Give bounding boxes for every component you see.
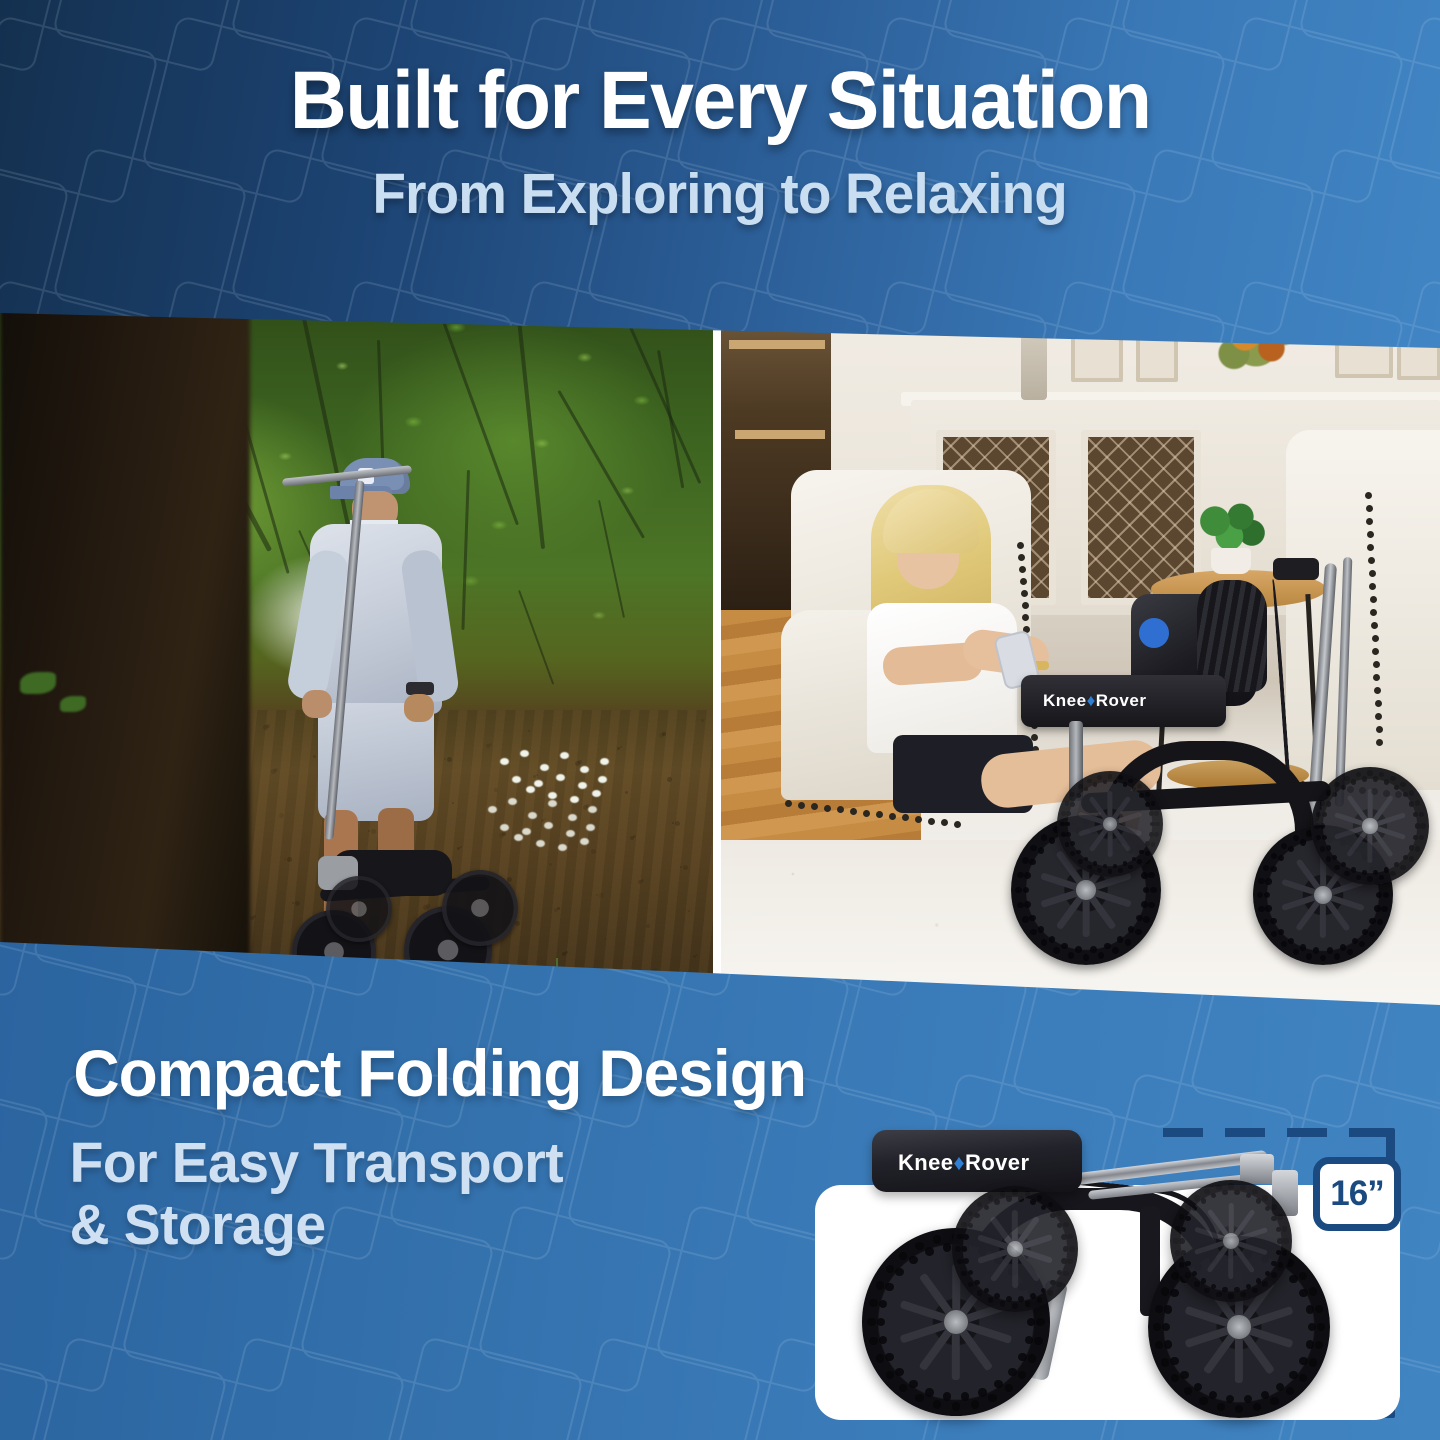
flower xyxy=(568,814,577,821)
debris-speck xyxy=(599,893,604,898)
flower xyxy=(514,834,523,841)
flower xyxy=(580,766,589,773)
debris-speck xyxy=(659,733,664,738)
feature-subtitle: For Easy Transport & Storage xyxy=(70,1133,563,1256)
photo-gallery: Knee♦Rover xyxy=(0,280,1440,1010)
tire-holes xyxy=(1311,767,1429,885)
feature-title: Compact Folding Design xyxy=(73,1040,806,1106)
indoor-living-room-photo: Knee♦Rover xyxy=(721,280,1440,1010)
flower xyxy=(558,844,567,851)
debris-speck xyxy=(701,719,704,722)
kitchen-shelf xyxy=(735,430,825,439)
nailhead xyxy=(1369,570,1376,577)
debris-speck xyxy=(667,777,672,782)
brand-word-2: Rover xyxy=(965,1150,1029,1175)
debris-speck xyxy=(696,954,698,956)
tire-holes xyxy=(1170,1180,1292,1302)
debris-speck xyxy=(250,916,254,920)
size-badge: 16” xyxy=(1313,1157,1401,1231)
debris-speck xyxy=(630,836,634,840)
flower xyxy=(508,798,517,805)
debris-speck xyxy=(528,730,530,732)
flower xyxy=(536,840,545,847)
debris-speck xyxy=(544,818,546,820)
feature-subtitle-line-2: & Storage xyxy=(70,1195,563,1257)
debris-speck xyxy=(620,746,622,748)
debris-speck xyxy=(271,769,276,774)
wheel-front-right xyxy=(326,876,392,942)
folding-clamp xyxy=(1240,1154,1274,1184)
folded-scooter-illustration: Knee♦Rover xyxy=(840,1110,1400,1420)
nailhead xyxy=(824,805,831,812)
debris-speck xyxy=(604,938,606,940)
foreground-tree-trunk xyxy=(0,280,250,1010)
knee-pad-seat: Knee♦Rover xyxy=(1021,675,1226,727)
folded-wheel-rear-inner xyxy=(1170,1180,1292,1302)
debris-speck xyxy=(646,924,650,928)
debris-speck xyxy=(617,747,620,750)
debris-speck xyxy=(675,821,680,826)
boot-dial-icon xyxy=(1139,618,1169,648)
debris-speck xyxy=(549,863,552,866)
nailhead xyxy=(1367,544,1374,551)
flower xyxy=(500,824,509,831)
brand-word-1: Knee xyxy=(898,1150,953,1175)
flower xyxy=(544,822,553,829)
debris-speck xyxy=(541,819,544,822)
right-hand xyxy=(404,694,434,722)
plant-pot xyxy=(1211,548,1251,574)
brand-word-2: Rover xyxy=(1096,691,1147,710)
nailhead xyxy=(1372,635,1379,642)
nailhead xyxy=(1366,505,1373,512)
flower xyxy=(560,752,569,759)
nailhead xyxy=(1370,609,1377,616)
flower xyxy=(540,764,549,771)
nailhead xyxy=(1367,531,1374,538)
flower xyxy=(548,800,557,807)
debris-speck xyxy=(683,865,688,870)
flower xyxy=(578,782,587,789)
flower xyxy=(580,838,589,845)
feature-subtitle-line-1: For Easy Transport xyxy=(70,1133,563,1195)
photo-divider xyxy=(713,280,721,1010)
page-title: Built for Every Situation xyxy=(290,60,1151,142)
indoor-knee-scooter: Knee♦Rover xyxy=(1021,675,1421,1005)
flower xyxy=(512,776,521,783)
debris-speck xyxy=(554,908,558,912)
debris-speck xyxy=(452,802,454,804)
debris-speck xyxy=(494,788,498,792)
tire-holes xyxy=(1057,771,1163,877)
debris-speck xyxy=(279,813,284,818)
flower xyxy=(526,786,535,793)
trunk-leaf-icon xyxy=(20,672,56,694)
flower xyxy=(566,830,575,837)
debris-speck xyxy=(284,858,286,860)
wheel-rear-right xyxy=(1311,767,1429,885)
tire-holes xyxy=(952,1186,1078,1312)
outdoor-forest-photo xyxy=(0,280,713,1010)
flower xyxy=(570,796,579,803)
flower xyxy=(588,806,597,813)
nailhead xyxy=(1372,648,1379,655)
flower xyxy=(522,828,531,835)
debris-speck xyxy=(680,866,682,868)
rover-person-icon: ♦ xyxy=(1087,691,1096,710)
debris-speck xyxy=(688,910,690,912)
nailhead xyxy=(1373,661,1380,668)
flower xyxy=(600,758,609,765)
product-infographic: Knee♦Rover Built for Every Situation Fro… xyxy=(0,0,1440,1440)
flower xyxy=(598,776,607,783)
nailhead xyxy=(1366,518,1373,525)
remote-control xyxy=(1273,558,1319,580)
nailhead xyxy=(798,802,805,809)
nailhead xyxy=(1368,557,1375,564)
debris-speck xyxy=(591,849,596,854)
kitchen-shelf xyxy=(729,340,825,349)
flower xyxy=(500,758,509,765)
nailhead xyxy=(1369,583,1376,590)
flower xyxy=(556,774,565,781)
flower xyxy=(488,806,497,813)
trunk-leaf-icon xyxy=(60,696,86,712)
debris-speck xyxy=(486,744,490,748)
flower xyxy=(592,790,601,797)
debris-speck xyxy=(693,955,696,958)
header-banner: Built for Every Situation From Exploring… xyxy=(0,0,1440,348)
nailhead xyxy=(785,800,792,807)
nailhead xyxy=(1370,596,1377,603)
debris-speck xyxy=(536,774,538,776)
debris-speck xyxy=(672,822,674,824)
page-subtitle: From Exploring to Relaxing xyxy=(373,166,1068,223)
left-hand xyxy=(302,690,332,718)
nailhead xyxy=(811,803,818,810)
brand-word-1: Knee xyxy=(1043,691,1087,710)
debris-speck xyxy=(575,761,580,766)
flower xyxy=(534,780,543,787)
kneerover-logo: Knee♦Rover xyxy=(1043,691,1146,711)
debris-speck xyxy=(533,775,536,778)
rover-person-icon: ♦ xyxy=(953,1150,965,1175)
debris-speck xyxy=(625,791,628,794)
debris-speck xyxy=(263,725,268,730)
nailhead xyxy=(1371,622,1378,629)
kneerover-logo: Knee♦Rover xyxy=(898,1150,1029,1176)
debris-speck xyxy=(596,894,598,896)
folded-wheel-front-inner xyxy=(952,1186,1078,1312)
flower xyxy=(520,750,529,757)
debris-speck xyxy=(562,952,566,956)
flower xyxy=(528,812,537,819)
wheel-rear-right xyxy=(442,870,518,946)
debris-speck xyxy=(638,880,642,884)
wheel-front-right xyxy=(1057,771,1163,877)
flower xyxy=(548,792,557,799)
nailhead xyxy=(1365,492,1372,499)
flower xyxy=(586,824,595,831)
